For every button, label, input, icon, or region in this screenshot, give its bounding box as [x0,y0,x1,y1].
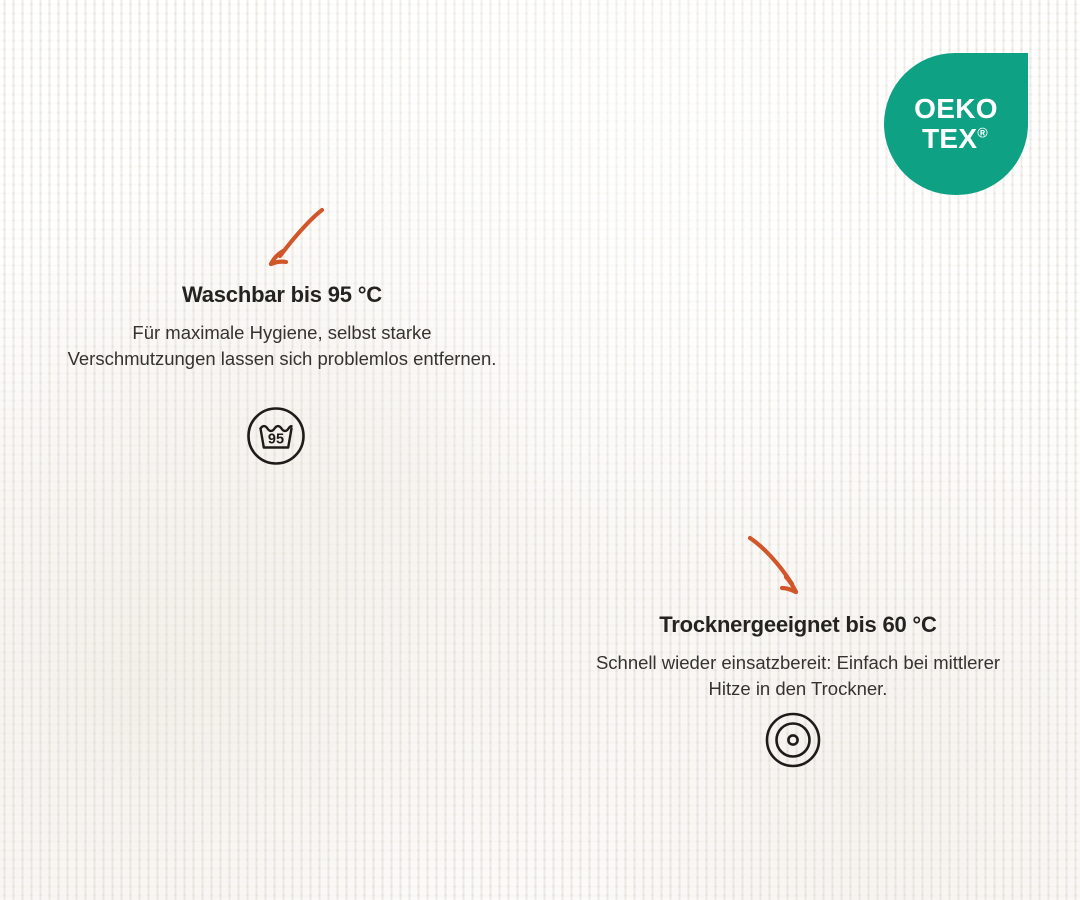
feature-wash-description: Für maximale Hygiene, selbst starke Vers… [62,320,502,372]
feature-wash-title: Waschbar bis 95 °C [62,282,502,308]
oeko-tex-badge: OEKO TEX® [884,53,1028,195]
curved-arrow-down-right-icon [740,524,820,604]
oeko-tex-badge-line-2-text: TEX [922,123,977,154]
washtub-95-icon: 95 [246,406,306,466]
feature-dryer-title: Trocknergeeignet bis 60 °C [578,612,1018,638]
washtub-temperature-label: 95 [268,431,284,447]
feature-dryer: Trocknergeeignet bis 60 °C Schnell wiede… [578,612,1018,702]
feature-wash: Waschbar bis 95 °C Für maximale Hygiene,… [62,282,502,372]
feature-dryer-description: Schnell wieder einsatzbereit: Einfach be… [578,650,1018,702]
oeko-tex-badge-line-1: OEKO [914,94,998,124]
curved-arrow-down-left-icon [258,198,338,278]
registered-trademark-icon: ® [977,125,988,141]
product-care-infographic: OEKO TEX® Waschbar bis 95 °C Für maximal… [0,0,1080,900]
oeko-tex-badge-line-2: TEX® [922,124,990,154]
tumble-dry-medium-heat-icon [764,711,822,769]
